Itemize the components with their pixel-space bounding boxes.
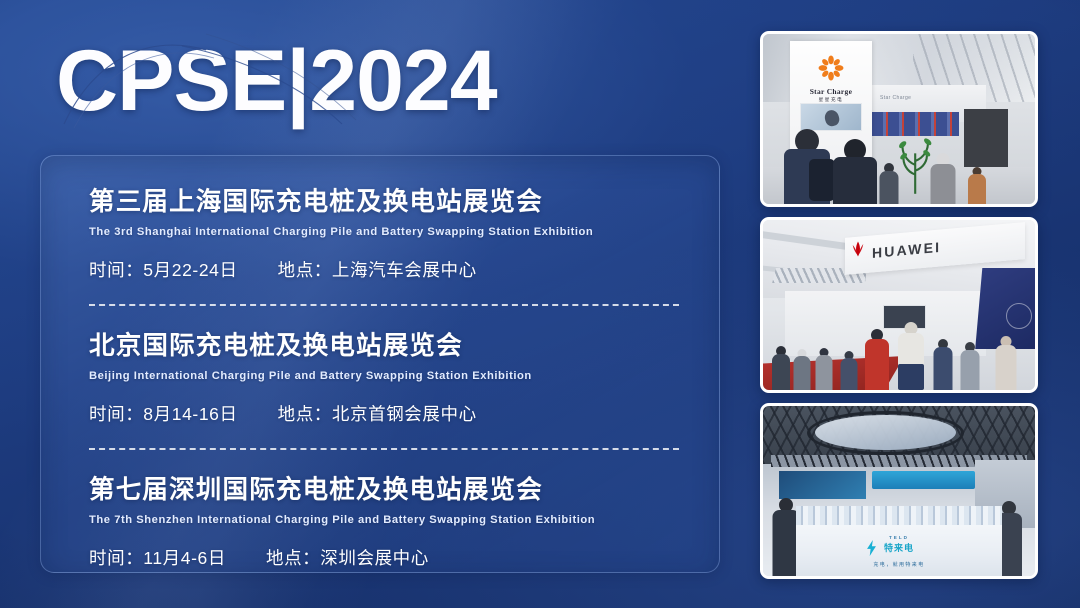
event-meta: 时间：5月22-24日 地点：上海汽车会展中心: [89, 258, 683, 282]
event-date: 时间：8月14-16日: [89, 402, 238, 426]
visitor-figure: [861, 329, 894, 390]
event-meta: 时间：8月14-16日 地点：北京首钢会展中心: [89, 402, 683, 426]
visitor-figure: [812, 348, 836, 391]
booth-backwall-text: Star Charge: [880, 95, 911, 101]
event-venue: 地点：深圳会展中心: [266, 546, 429, 570]
event-title-en: The 3rd Shanghai International Charging …: [89, 223, 683, 241]
photo-gallery: Star Charge: [760, 31, 1038, 579]
visitor-figure: [956, 342, 983, 390]
event-title-cn: 第七届深圳国际充电桩及换电站展览会: [89, 474, 683, 506]
visitor-figure: [959, 167, 994, 204]
visitor-figure: [836, 351, 860, 390]
visitor-figure: [921, 153, 965, 204]
photo-scene: Star Charge: [763, 34, 1035, 204]
booth-photo-star-charge: Star Charge: [760, 31, 1038, 207]
event-title-cn: 北京国际充电桩及换电站展览会: [89, 330, 683, 362]
photo-scene: HUAWEI: [763, 220, 1035, 390]
teld-brand-cn: 特来电: [884, 543, 914, 553]
cpse-logo-text: CPSE|2024: [56, 28, 576, 134]
star-charge-flower-icon: [818, 55, 844, 81]
visitor-figure: [872, 163, 907, 204]
event-meta: 时间：11月4-6日 地点：深圳会展中心: [89, 546, 683, 570]
teld-tagline: 充电，就用特来电: [763, 561, 1035, 568]
cpse-logo: CPSE|2024: [56, 28, 576, 134]
event-title-en: Beijing International Charging Pile and …: [89, 367, 683, 385]
event-venue: 地点：北京首钢会展中心: [278, 402, 477, 426]
visitor-figure: [991, 336, 1021, 390]
event-title-en: The 7th Shenzhen International Charging …: [89, 511, 683, 529]
booth-photo-huawei: HUAWEI: [760, 217, 1038, 393]
photo-scene: TELD 特来电 充电，就用特来电: [763, 406, 1035, 576]
teld-brand-en: TELD: [763, 535, 1035, 540]
event-venue: 地点：上海汽车会展中心: [278, 258, 477, 282]
event-date: 时间：5月22-24日: [89, 258, 238, 282]
visitor-figure: [894, 322, 929, 390]
event-item: 北京国际充电桩及换电站展览会 Beijing International Cha…: [41, 330, 719, 426]
huawei-logo-icon: [849, 239, 867, 259]
event-item: 第七届深圳国际充电桩及换电站展览会 The 7th Shenzhen Inter…: [41, 474, 719, 570]
visitor-figure: [929, 339, 956, 390]
teld-brand-label: TELD 特来电: [763, 535, 1035, 554]
event-divider: [89, 304, 679, 306]
booth-photo-teld: TELD 特来电 充电，就用特来电: [760, 403, 1038, 579]
events-card: 第三届上海国际充电桩及换电站展览会 The 3rd Shanghai Inter…: [40, 155, 720, 573]
event-title-cn: 第三届上海国际充电桩及换电站展览会: [89, 186, 683, 218]
event-item: 第三届上海国际充电桩及换电站展览会 The 3rd Shanghai Inter…: [41, 186, 719, 282]
booth-brand-label: Star Charge 星星充电: [790, 87, 872, 103]
event-divider: [89, 448, 679, 450]
event-date: 时间：11月4-6日: [89, 546, 226, 570]
